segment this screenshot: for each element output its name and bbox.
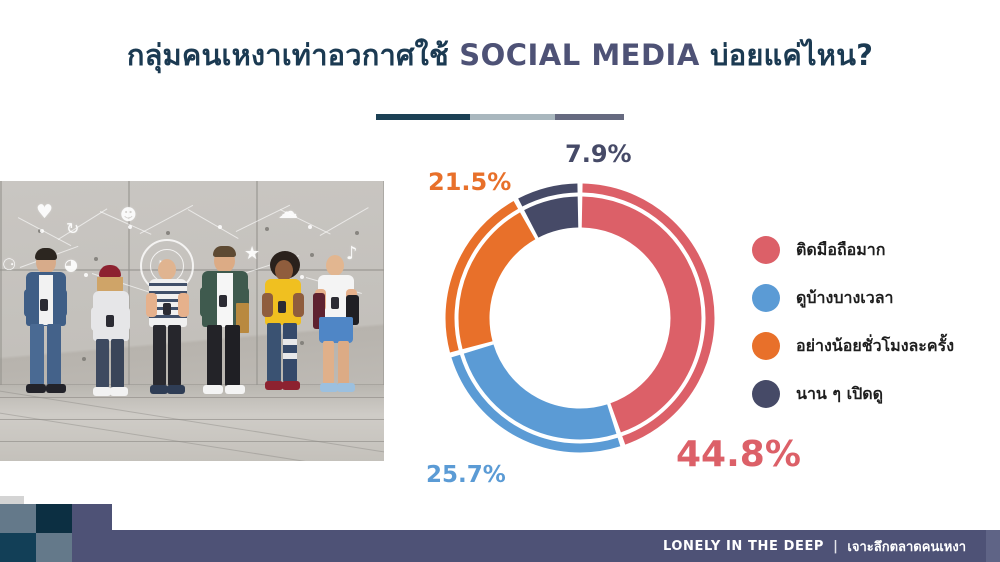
donut-inner-ring — [474, 212, 686, 424]
footer-branding: LONELY IN THE DEEP | เจาะลึกตลาดคนเหงา — [663, 530, 966, 562]
hero-photo: ♥ ↻ ☻ ◕ ⊳ ★ ☁ ♪ ● ⚆ — [0, 181, 384, 461]
refresh-icon: ↻ — [66, 221, 79, 237]
divider-segment-slate — [555, 114, 624, 120]
donut-chart-svg — [444, 182, 716, 454]
donut-slice-1 — [479, 349, 612, 424]
decorative-block — [0, 504, 36, 533]
percent-label-red: 44.8% — [676, 434, 801, 475]
chat-bubble-icon: ⚆ — [2, 257, 16, 273]
legend-color-dot-icon — [752, 332, 780, 360]
donut-slice-3 — [531, 212, 578, 224]
photo-person — [88, 265, 134, 401]
footer-separator: | — [833, 539, 838, 554]
decorative-block — [72, 533, 112, 562]
page-title: กลุ่มคนเหงาเท่าอวกาศใช้ SOCIAL MEDIA บ่อ… — [0, 38, 1000, 73]
percent-label-blue: 25.7% — [426, 462, 506, 488]
legend-color-dot-icon — [752, 236, 780, 264]
decorative-block — [0, 533, 36, 562]
decorative-block — [72, 504, 112, 533]
cloud-download-icon: ☁ — [278, 201, 298, 221]
legend-item-label: ติดมือถือมาก — [796, 238, 885, 263]
legend-item-1[interactable]: ดูบ้างบางเวลา — [752, 274, 996, 322]
footer-right-accent — [986, 530, 1000, 562]
decorative-blocks — [0, 504, 112, 562]
footer-bar: LONELY IN THE DEEP | เจาะลึกตลาดคนเหงา — [0, 530, 1000, 562]
photo-person — [312, 255, 362, 401]
legend-color-dot-icon — [752, 380, 780, 408]
title-divider — [376, 114, 624, 120]
legend-item-2[interactable]: อย่างน้อยชั่วโมงละครั้ง — [752, 322, 996, 370]
footer-tagline: เจาะลึกตลาดคนเหงา — [847, 536, 966, 557]
donut-slice-2 — [474, 226, 528, 345]
divider-segment-dark — [376, 114, 470, 120]
heart-icon: ♥ — [36, 203, 53, 222]
legend-item-0[interactable]: ติดมือถือมาก — [752, 226, 996, 274]
photo-person — [198, 249, 252, 401]
decorative-block — [36, 533, 72, 562]
legend-item-label: นาน ๆ เปิดดู — [796, 382, 883, 407]
donut-chart — [444, 182, 716, 454]
donut-slice-0 — [582, 212, 686, 418]
page-title-thai-suffix: บ่อยแค่ไหน? — [700, 38, 873, 72]
percent-label-orange: 21.5% — [428, 168, 511, 196]
legend-color-dot-icon — [752, 284, 780, 312]
user-profile-icon: ☻ — [120, 207, 137, 223]
photo-person — [258, 255, 308, 401]
legend-item-3[interactable]: นาน ๆ เปิดดู — [752, 370, 996, 418]
photo-person — [22, 251, 72, 401]
footer-brand: LONELY IN THE DEEP — [663, 539, 824, 554]
slide-canvas: กลุ่มคนเหงาเท่าอวกาศใช้ SOCIAL MEDIA บ่อ… — [0, 0, 1000, 562]
divider-segment-light — [470, 114, 554, 120]
legend-item-label: อย่างน้อยชั่วโมงละครั้ง — [796, 334, 954, 359]
percent-label-navy: 7.9% — [565, 140, 632, 168]
decorative-tab — [0, 496, 24, 504]
legend-item-label: ดูบ้างบางเวลา — [796, 286, 894, 311]
page-title-english: SOCIAL MEDIA — [459, 38, 700, 72]
page-title-thai-prefix: กลุ่มคนเหงาเท่าอวกาศใช้ — [127, 38, 459, 72]
chart-legend: ติดมือถือมาก ดูบ้างบางเวลา อย่างน้อยชั่ว… — [752, 226, 996, 418]
photo-person — [144, 257, 192, 401]
decorative-block — [36, 504, 72, 533]
